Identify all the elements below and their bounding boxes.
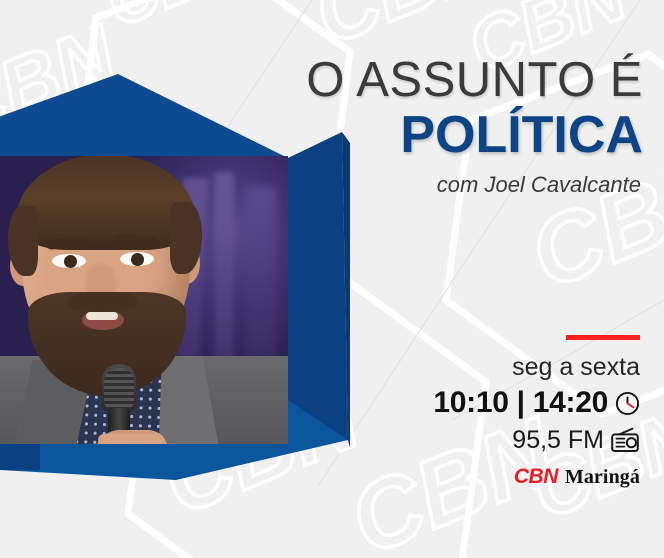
schedule-days: seg a sexta (433, 352, 640, 382)
clock-icon (615, 391, 640, 416)
red-accent-bar (566, 335, 640, 340)
schedule-times: 10:10 | 14:20 (433, 385, 608, 421)
radio-icon (610, 427, 640, 453)
schedule-times-row: 10:10 | 14:20 (433, 385, 640, 421)
program-banner: CBN CBN CBN CBN CBN CBN CBN CBN (0, 0, 664, 558)
station-city: Maringá (565, 466, 640, 489)
station-brand: CBN (514, 465, 558, 489)
schedule-block: seg a sexta 10:10 | 14:20 95,5 FM (433, 335, 640, 489)
program-title-block: O ASSUNTO É POLÍTICA com Joel Cavalcante (306, 52, 643, 200)
station-frequency: 95,5 FM (512, 424, 604, 456)
program-title-line2: POLÍTICA (306, 106, 643, 164)
program-title-line1: O ASSUNTO É (306, 52, 643, 108)
host-photo (0, 156, 288, 444)
frequency-row: 95,5 FM (433, 424, 640, 456)
host-credit: com Joel Cavalcante (306, 170, 641, 200)
station-logo: CBN Maringá (433, 465, 640, 489)
